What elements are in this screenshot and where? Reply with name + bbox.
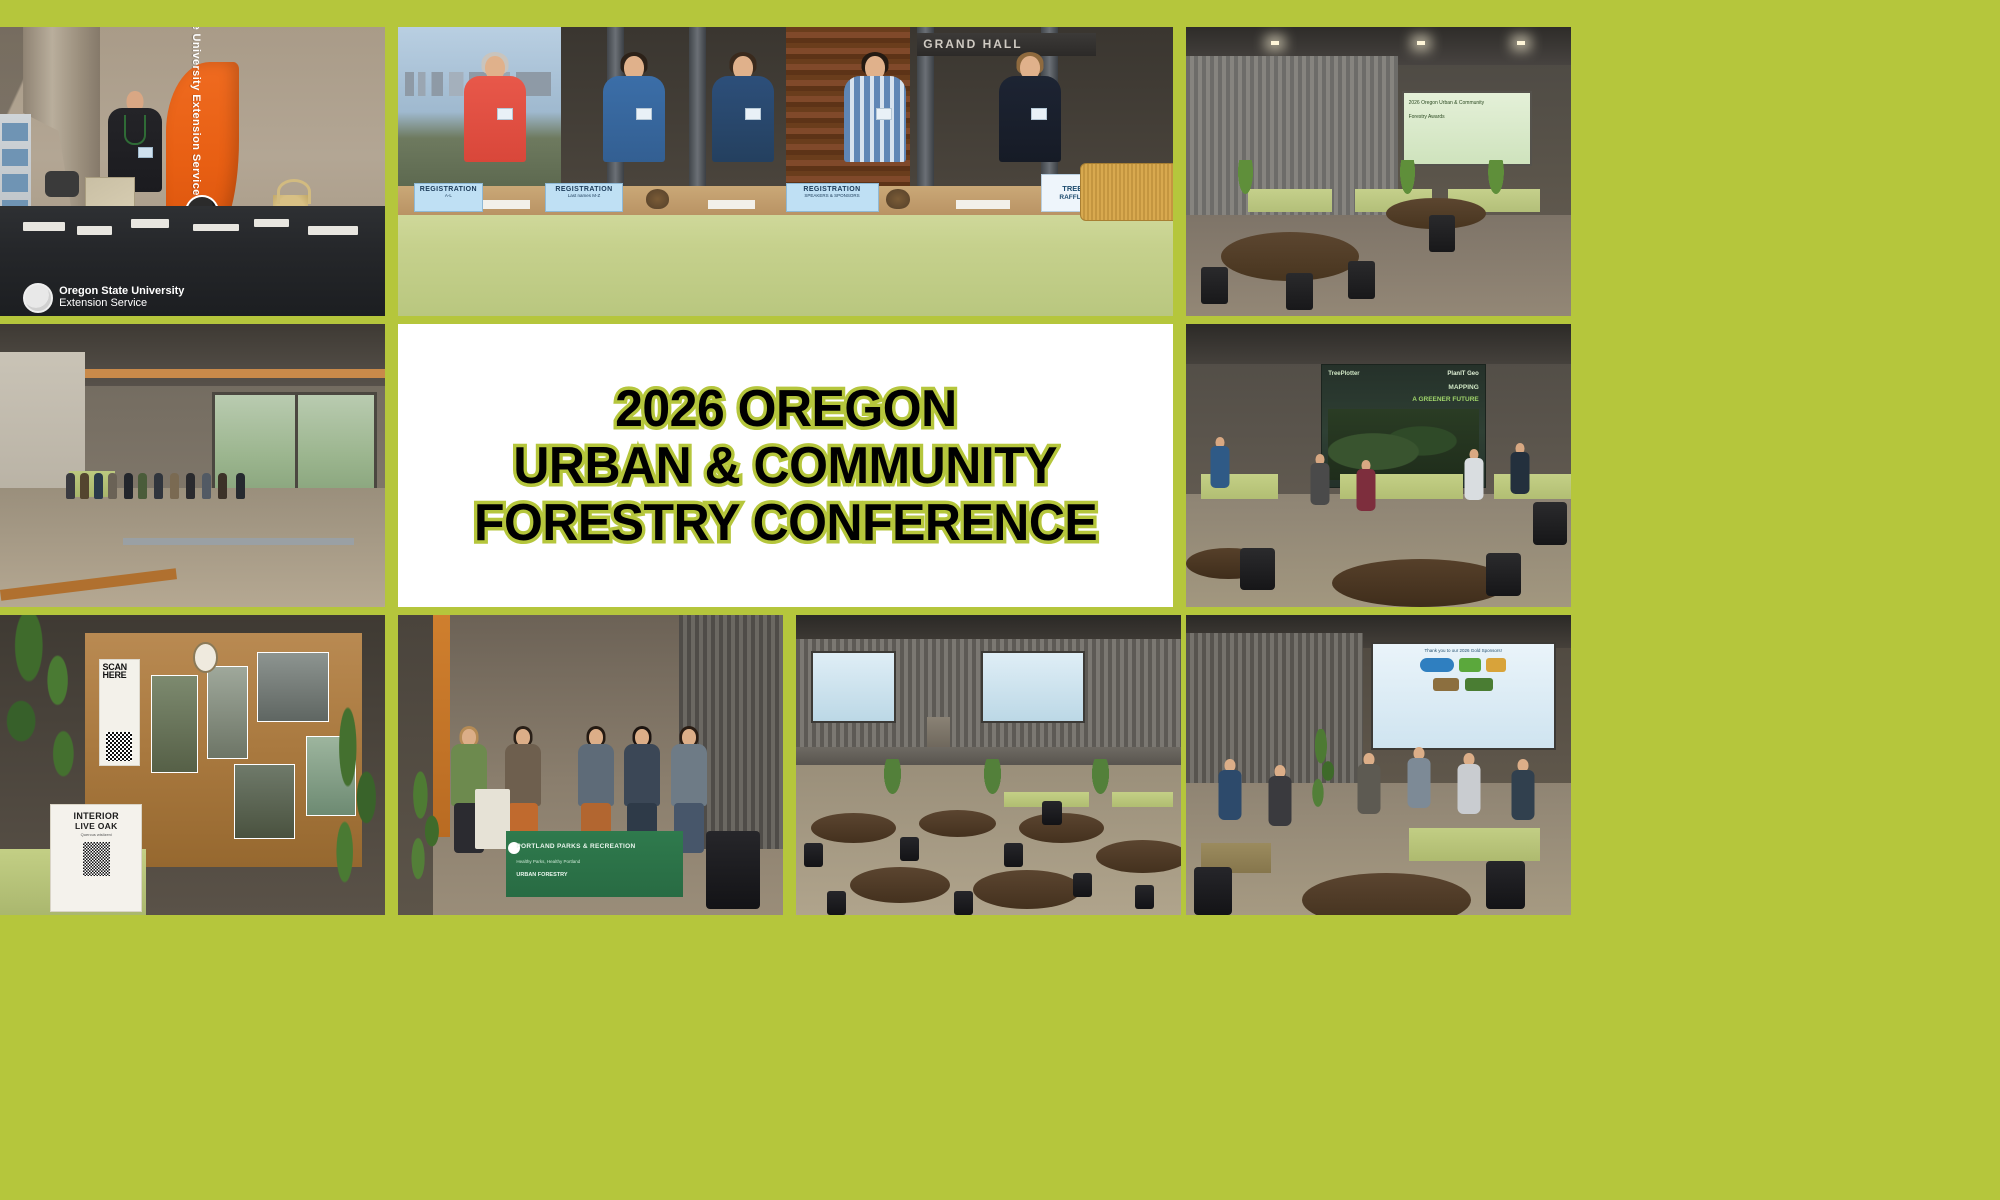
sponsor-logo-2 — [1459, 658, 1481, 672]
photo-banquet-hall-session — [796, 615, 1181, 915]
presentation-screen: 2026 Oregon Urban & Community Forestry A… — [1402, 91, 1533, 166]
registration-sign-speakers: REGISTRATION SPEAKERS & SPONSORS — [786, 183, 879, 212]
chair — [954, 891, 973, 915]
chair — [1486, 861, 1525, 909]
volunteer-person — [700, 56, 785, 195]
sponsor-logo-1 — [1420, 658, 1454, 672]
stair-railing — [123, 538, 354, 545]
photo-lobby-stairway — [0, 324, 385, 607]
screen-text-line1: 2026 Oregon Urban & Community — [1404, 93, 1531, 108]
volunteer-person — [452, 56, 537, 195]
attendee — [1509, 759, 1536, 849]
potted-tree — [881, 759, 904, 801]
sponsor-logo-4 — [1433, 678, 1459, 691]
registration-sign-m-z: REGISTRATION Last names M-Z — [545, 183, 623, 212]
potted-tree — [1302, 729, 1344, 813]
projection-screen — [811, 651, 896, 723]
osu-tablecloth-logo: Oregon State University Extension Servic… — [23, 283, 184, 313]
chair — [706, 831, 760, 909]
tree-branch — [323, 705, 385, 915]
chair — [1201, 267, 1228, 305]
chair — [1004, 843, 1023, 867]
qr-code — [106, 732, 132, 762]
ceiling-light — [1271, 41, 1279, 45]
vendor-table — [1494, 474, 1571, 499]
tree-canopy-graphic — [1328, 409, 1478, 480]
attendee — [1509, 443, 1530, 517]
round-table — [1096, 840, 1181, 873]
chair — [1429, 215, 1456, 253]
round-table — [1019, 813, 1104, 843]
attendee — [1217, 759, 1244, 849]
attendee-crowd — [62, 432, 262, 500]
raffle-drum — [1080, 163, 1173, 221]
board-photo — [257, 652, 329, 722]
treeplotter-backdrop: TreePlotter PlanIT Geo MAPPING A GREENER… — [1321, 364, 1487, 489]
photo-treeplotter-booth: TreePlotter PlanIT Geo MAPPING A GREENER… — [1186, 324, 1571, 607]
board-photo — [207, 666, 249, 760]
chair — [1194, 867, 1233, 915]
volunteer-person — [592, 56, 677, 195]
chair — [1348, 261, 1375, 299]
photo-sponsor-slide-room: Thank you to our 2026 Gold Sponsors! — [1186, 615, 1571, 915]
potted-tree — [1089, 759, 1112, 801]
vendor-table — [1248, 189, 1333, 212]
sponsor-slide-screen: Thank you to our 2026 Gold Sponsors! — [1371, 642, 1556, 750]
board-photo — [151, 675, 198, 773]
ceiling — [1186, 324, 1571, 364]
exhibit-table: Oregon State University Extension Servic… — [0, 206, 385, 316]
planitgeo-logo-text: PlanIT Geo — [1447, 371, 1478, 377]
attendee — [1355, 460, 1376, 534]
attendee — [1463, 449, 1484, 523]
title-line-2: URBAN & COMMUNITY — [514, 440, 1058, 492]
attendee — [1267, 765, 1294, 855]
round-table — [850, 867, 950, 903]
portland-parks-table-banner: PORTLAND PARKS & RECREATION Healthy Park… — [506, 831, 683, 897]
title-line-3: FORESTRY CONFERENCE — [474, 497, 1097, 549]
sponsor-logo-3 — [1486, 658, 1506, 672]
green-table-skirt — [398, 215, 1173, 316]
registration-sign-a-l: REGISTRATION A-L — [414, 183, 484, 212]
chair — [1135, 885, 1154, 909]
potted-plant — [402, 765, 448, 885]
board-photo — [234, 764, 295, 839]
chair — [1486, 553, 1521, 595]
chair — [900, 837, 919, 861]
booth-tagline: MAPPING — [1448, 384, 1478, 391]
ceiling-light — [1417, 41, 1425, 45]
photo-portland-parks-booth: PORTLAND PARKS & RECREATION Healthy Park… — [398, 615, 783, 915]
treeplotter-logo-text: TreePlotter — [1328, 371, 1359, 377]
interior-live-oak-sign: INTERIOR LIVE OAK Quercus wislizeni — [50, 804, 142, 912]
potted-tree — [1398, 160, 1417, 200]
sponsor-logo-5 — [1465, 678, 1493, 691]
attendee — [1355, 753, 1382, 843]
potted-tree — [981, 759, 1004, 801]
pinecone-decor — [886, 189, 909, 209]
foliage — [0, 615, 96, 819]
volunteer-person — [832, 56, 917, 195]
photo-cork-display-board: SCAN HERE INTERIOR LIVE OAK Quercus wisl… — [0, 615, 385, 915]
projection-screen — [981, 651, 1085, 723]
chair — [1042, 801, 1061, 825]
potted-tree — [1236, 160, 1255, 200]
chair — [1073, 873, 1092, 897]
round-table — [919, 810, 996, 837]
pinecone-decor — [646, 189, 669, 209]
round-table — [973, 870, 1081, 909]
title-line-1: 2026 OREGON — [615, 383, 957, 435]
screen-text-line2: Forestry Awards — [1404, 107, 1531, 122]
chair — [1286, 273, 1313, 311]
round-table — [1332, 559, 1509, 607]
photo-exhibit-hall-screen: 2026 Oregon Urban & Community Forestry A… — [1186, 27, 1571, 316]
attendee — [1456, 753, 1483, 843]
attendee — [1209, 437, 1230, 511]
photo-registration-desk-team: GRAND HALL REGIST — [398, 27, 1173, 316]
conference-title-panel: 2026 OREGON URBAN & COMMUNITY FORESTRY C… — [398, 324, 1173, 607]
award-seal-icon — [193, 642, 218, 672]
chair — [804, 843, 823, 867]
booth-tagline-2: A GREENER FUTURE — [1412, 396, 1479, 403]
qr-code — [83, 842, 110, 876]
round-table — [811, 813, 896, 843]
osu-logo-line1: Oregon State University — [59, 286, 184, 298]
osu-beaver-icon — [23, 283, 53, 313]
grand-hall-sign: GRAND HALL — [917, 33, 1095, 56]
scan-here-poster: SCAN HERE — [99, 659, 141, 767]
osu-banner-text: Oregon State University Extension Servic… — [190, 27, 202, 196]
sponsor-slide-header: Thank you to our 2026 Gold Sponsors! — [1373, 644, 1554, 653]
potted-tree — [1486, 160, 1505, 200]
vendor-table — [1112, 792, 1174, 807]
osu-logo-line2: Extension Service — [59, 298, 184, 310]
chair — [1240, 548, 1275, 590]
photo-osu-extension-booth: Oregon State University Extension Servic… — [0, 27, 385, 316]
tote-bag — [475, 789, 510, 849]
photo-collage-poster: Oregon State University Extension Servic… — [0, 0, 2000, 1200]
attendee — [1405, 747, 1432, 837]
attendee — [1309, 454, 1330, 528]
ceiling-light — [1517, 41, 1525, 45]
chair — [827, 891, 846, 915]
chair — [1533, 502, 1568, 544]
